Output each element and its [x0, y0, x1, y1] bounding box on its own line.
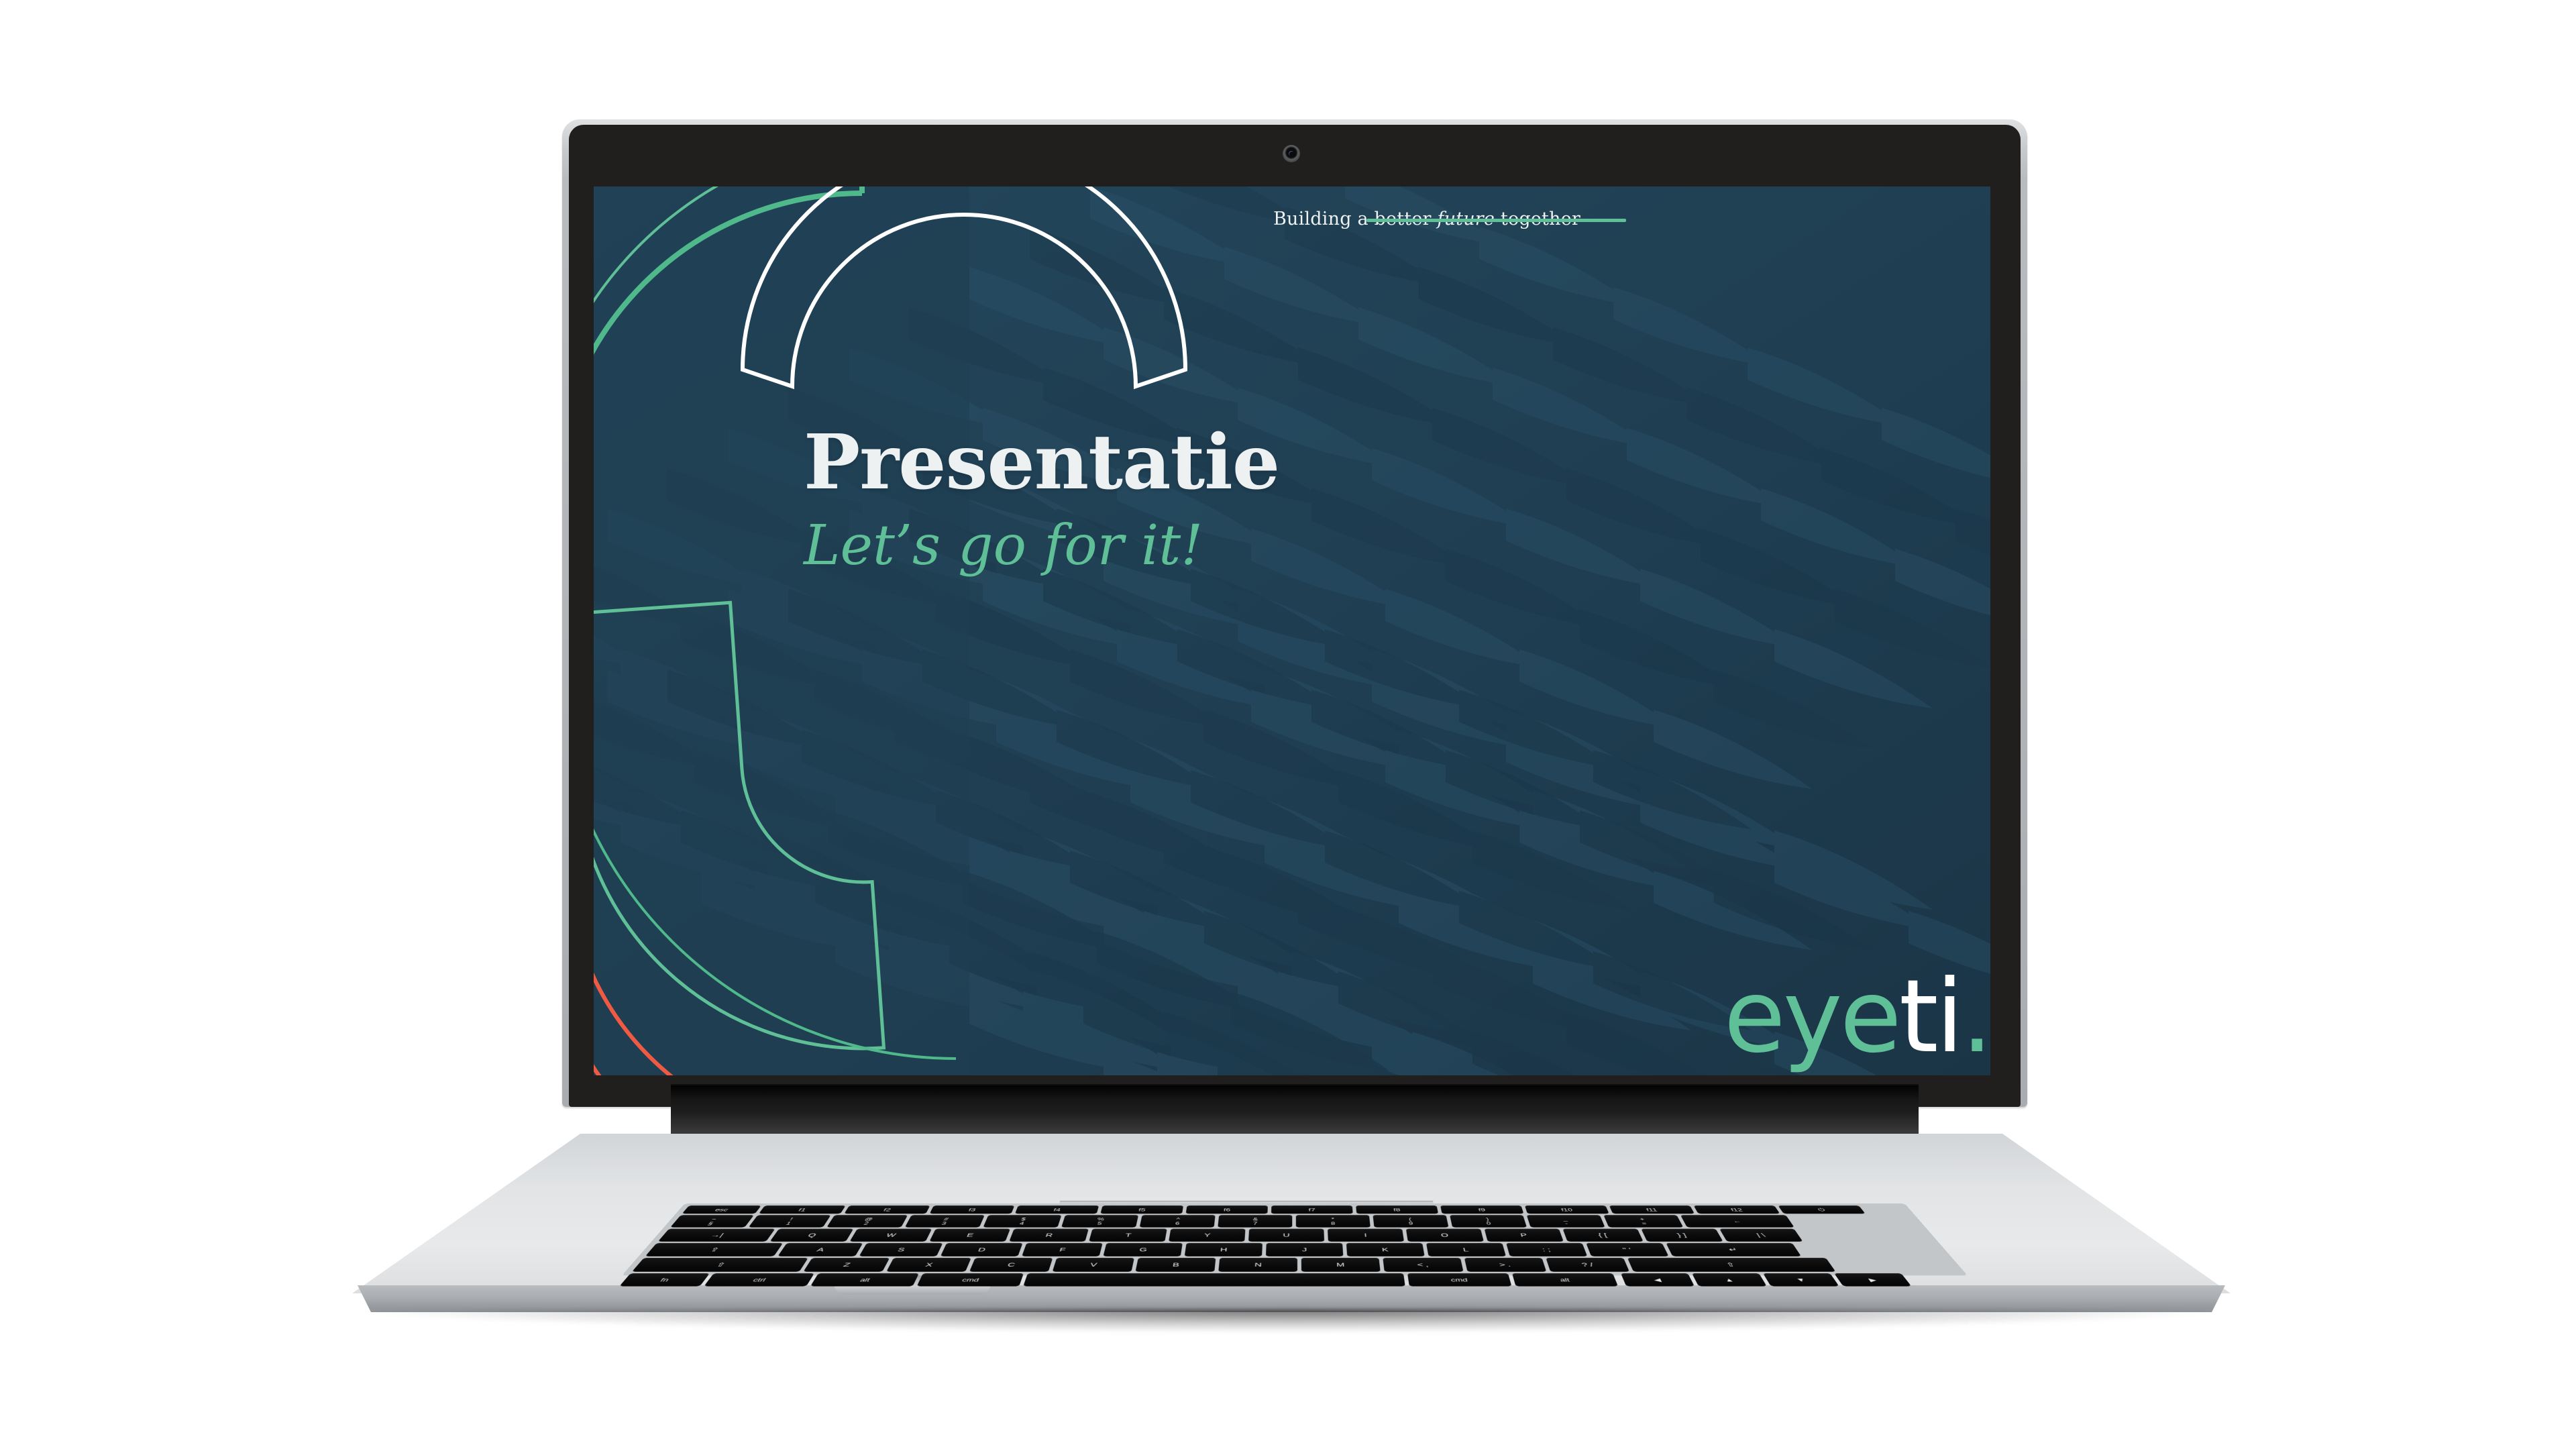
key-f[interactable]: F — [1022, 1243, 1103, 1256]
key-v[interactable]: V — [1053, 1258, 1134, 1272]
key--[interactable]: ↵ — [1666, 1243, 1801, 1256]
key-num-0[interactable]: ~§ — [670, 1215, 754, 1227]
key-z[interactable]: Z — [803, 1258, 890, 1272]
key-b[interactable]: B — [1135, 1258, 1216, 1272]
key-y[interactable]: Y — [1169, 1229, 1245, 1242]
key--[interactable]: { [ — [1562, 1229, 1643, 1242]
keyboard-row-function: escf1f2f3f4f5f6f7f8f9f10f11f12⏻ — [682, 1205, 1866, 1214]
key-f2[interactable]: f2 — [844, 1205, 930, 1214]
key-f5[interactable]: f5 — [1100, 1205, 1183, 1214]
key-num-12[interactable]: += — [1603, 1215, 1683, 1227]
screenshot-canvas: Building a better future together Presen… — [0, 0, 2576, 1449]
key-f11[interactable]: f11 — [1609, 1205, 1695, 1214]
key-f3[interactable]: f3 — [930, 1205, 1015, 1214]
laptop-screen: Building a better future together Presen… — [594, 186, 1990, 1075]
key-f6[interactable]: f6 — [1186, 1205, 1268, 1214]
slide-subtitle: Let’s go for it! — [804, 519, 1203, 574]
key-k[interactable]: K — [1346, 1243, 1425, 1256]
key-m[interactable]: M — [1301, 1258, 1381, 1272]
key-c[interactable]: C — [969, 1258, 1053, 1272]
key-f1[interactable]: f1 — [759, 1205, 846, 1214]
key-x[interactable]: X — [886, 1258, 971, 1272]
key-num-5[interactable]: %5 — [1061, 1215, 1138, 1227]
key-fn[interactable]: fn — [619, 1273, 710, 1286]
webcam-lens-icon — [1289, 151, 1294, 156]
key-esc[interactable]: esc — [682, 1205, 761, 1214]
laptop-drop-shadow — [376, 1309, 2207, 1332]
logo-part-white: ti — [1899, 959, 1962, 1075]
key-num-3[interactable]: #3 — [905, 1215, 985, 1227]
key-d[interactable]: D — [941, 1243, 1023, 1256]
key-w[interactable]: W — [849, 1229, 932, 1242]
key-num-8[interactable]: *8 — [1296, 1215, 1371, 1227]
key--[interactable]: ⇧ — [632, 1258, 808, 1272]
key-l[interactable]: L — [1426, 1243, 1506, 1256]
key-alt[interactable]: alt — [810, 1273, 919, 1286]
key-num-13[interactable]: ← — [1680, 1215, 1794, 1227]
tagline-rule — [1366, 219, 1626, 222]
eyeti-logo: eyeti. — [1723, 967, 1990, 1067]
keyboard[interactable]: escf1f2f3f4f5f6f7f8f9f10f11f12⏻ ~§!1@2#3… — [631, 1205, 1959, 1273]
keyboard-row-number: ~§!1@2#3$4%5^6&7*8(9)0_-+=← — [670, 1215, 1794, 1227]
key-u[interactable]: U — [1248, 1229, 1324, 1242]
key-f9[interactable]: f9 — [1440, 1205, 1523, 1214]
key--[interactable]: | \ — [1719, 1229, 1803, 1242]
key-f4[interactable]: f4 — [1015, 1205, 1099, 1214]
key--[interactable]: " ' — [1586, 1243, 1668, 1256]
key-j[interactable]: J — [1266, 1243, 1343, 1256]
key-q[interactable]: Q — [770, 1229, 854, 1242]
key-space[interactable] — [1023, 1273, 1405, 1286]
key-arrow-9660[interactable]: ▼ — [1763, 1273, 1839, 1286]
key-num-9[interactable]: (9 — [1373, 1215, 1448, 1227]
keyboard-row-home: ⇪ASDFGHJKL: ;" '↵ — [645, 1243, 1801, 1256]
key-a[interactable]: A — [777, 1243, 863, 1256]
key-cmd[interactable]: cmd — [917, 1273, 1024, 1286]
key-e[interactable]: E — [929, 1229, 1010, 1242]
key-f7[interactable]: f7 — [1271, 1205, 1353, 1214]
key-arrow-9664[interactable]: ◀ — [1621, 1273, 1695, 1286]
key-p[interactable]: P — [1485, 1229, 1564, 1242]
laptop-hinge-shadow — [671, 1085, 1919, 1099]
key--[interactable]: > . — [1464, 1258, 1546, 1272]
key-f10[interactable]: f10 — [1525, 1205, 1609, 1214]
key-ctrl[interactable]: ctrl — [704, 1273, 814, 1286]
key-n[interactable]: N — [1218, 1258, 1297, 1272]
key-num-1[interactable]: !1 — [749, 1215, 831, 1227]
key-num-2[interactable]: @2 — [826, 1215, 908, 1227]
slide-title: Presentatie — [804, 425, 1279, 500]
key-r[interactable]: R — [1009, 1229, 1089, 1242]
key-num-7[interactable]: &7 — [1218, 1215, 1292, 1227]
laptop-mockup: Building a better future together Presen… — [0, 0, 2576, 1449]
key--[interactable]: ? / — [1546, 1258, 1629, 1272]
key--[interactable]: } ] — [1641, 1229, 1723, 1242]
key-num-4[interactable]: $4 — [983, 1215, 1061, 1227]
key-cmd[interactable]: cmd — [1407, 1273, 1511, 1286]
keyboard-row-space: fnctrlaltcmdcmdalt◀▲▼▶ — [619, 1273, 1911, 1286]
key-num-10[interactable]: )0 — [1450, 1215, 1527, 1227]
key-num-11[interactable]: _- — [1527, 1215, 1605, 1227]
logo-dot: . — [1961, 959, 1990, 1075]
key-f8[interactable]: f8 — [1356, 1205, 1438, 1214]
decorative-arcs — [594, 186, 1990, 1075]
key-arrow-9654[interactable]: ▶ — [1834, 1273, 1911, 1286]
key--[interactable]: : ; — [1506, 1243, 1587, 1256]
key-alt[interactable]: alt — [1512, 1273, 1618, 1286]
presentation-slide: Building a better future together Presen… — [594, 186, 1990, 1075]
logo-part-green: eye — [1723, 959, 1898, 1075]
key-f12[interactable]: f12 — [1694, 1205, 1780, 1214]
key-i[interactable]: I — [1328, 1229, 1404, 1242]
key--[interactable]: ⏻ — [1778, 1205, 1865, 1214]
key-t[interactable]: T — [1089, 1229, 1167, 1242]
keyboard-row-bottom: ⇧ZXCVBNM< ,> .? /⇧ — [632, 1258, 1835, 1272]
key--[interactable]: ⇧ — [1627, 1258, 1836, 1272]
key--[interactable]: ⇪ — [645, 1243, 784, 1256]
key-h[interactable]: H — [1185, 1243, 1263, 1256]
key-g[interactable]: G — [1103, 1243, 1182, 1256]
key--[interactable]: < , — [1383, 1258, 1463, 1272]
keyboard-row-qwerty: →|QWERTYUIOP{ [} ]| \ — [658, 1229, 1803, 1242]
key-arrow-9650[interactable]: ▲ — [1692, 1273, 1767, 1286]
key-s[interactable]: S — [859, 1243, 943, 1256]
arrow-key-cluster[interactable]: ◀▲▼▶ — [1621, 1273, 1911, 1286]
key--[interactable]: →| — [658, 1229, 775, 1242]
key-o[interactable]: O — [1406, 1229, 1484, 1242]
key-num-6[interactable]: ^6 — [1140, 1215, 1216, 1227]
